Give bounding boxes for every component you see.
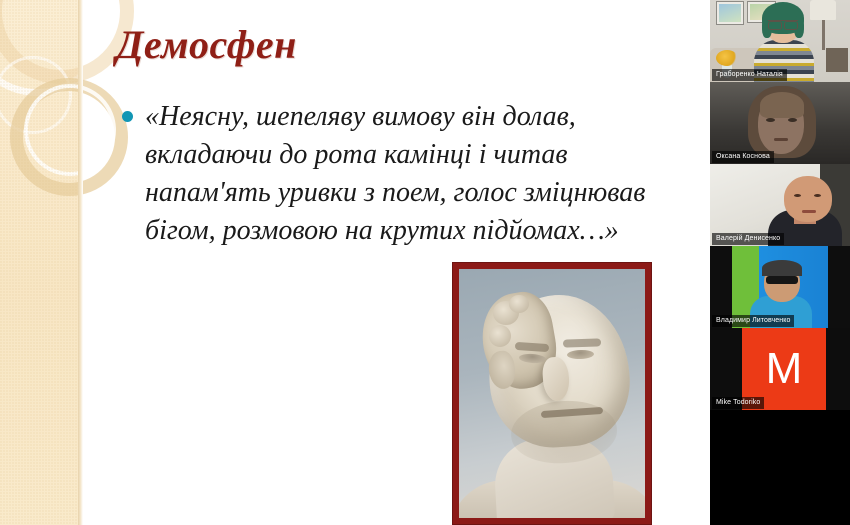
decorative-band-edge	[78, 0, 83, 525]
decorative-ring-icon	[24, 84, 116, 176]
participant-name-label: Mike Todoriko	[712, 397, 764, 409]
bust-hair-detail	[489, 325, 511, 347]
demosthenes-bust-image	[459, 269, 645, 518]
decorative-ring-icon	[10, 78, 128, 196]
participant-eye-left	[794, 194, 801, 197]
participant-name-label: Валерій Денисенко	[712, 233, 784, 245]
video-tile-participant-1[interactable]: Грабоpенко Наталія	[710, 0, 850, 82]
decorative-ring-icon	[0, 0, 108, 96]
participant-eye-right	[814, 194, 821, 197]
video-participant-strip: Грабоpенко Наталія Оксана Коснова	[710, 0, 850, 525]
video-tile-participant-2[interactable]: Оксана Коснова	[710, 82, 850, 164]
slide-title: Демосфен	[116, 24, 297, 66]
bust-brow-right	[563, 338, 601, 347]
presentation-slide: Демосфен «Неясну, шепеляву вимову він до…	[0, 0, 710, 525]
decorative-sidebar-band	[0, 0, 78, 525]
participant-hair	[762, 260, 802, 276]
floor-lamp	[810, 0, 836, 20]
participant-name-label: Грабоpенко Наталія	[712, 69, 787, 81]
flowers	[716, 50, 738, 66]
shelf	[826, 48, 848, 72]
bullet-dot-icon	[122, 111, 133, 122]
slide-bullet-item: «Неясну, шепеляву вимову він долав, вкла…	[122, 98, 687, 250]
decorative-ring-icon	[0, 0, 134, 84]
demosthenes-bust-image-frame	[452, 262, 652, 525]
participant-mouth	[802, 210, 816, 213]
decorative-ring-icon	[0, 56, 72, 134]
participant-face	[784, 176, 832, 222]
glasses-icon	[768, 20, 798, 28]
bust-hair-detail	[509, 295, 529, 313]
sunglasses-icon	[766, 276, 798, 284]
participant-hair	[760, 92, 804, 118]
slide-body-text: «Неясну, шепеляву вимову він долав, вкла…	[145, 98, 687, 250]
video-tile-participant-3[interactable]: Валерій Денисенко	[710, 164, 850, 246]
participant-name-label: Оксана Коснова	[712, 151, 774, 163]
participant-eye-left	[766, 118, 775, 122]
screen: Демосфен «Неясну, шепеляву вимову він до…	[0, 0, 850, 525]
participant-mouth	[774, 138, 788, 141]
video-strip-empty-area	[710, 410, 850, 525]
wall-picture-frame	[716, 1, 744, 25]
video-tile-participant-5[interactable]: M Mike Todoriko	[710, 328, 850, 410]
participant-eye-right	[788, 118, 797, 122]
floor-lamp-pole	[822, 20, 825, 50]
video-tile-participant-4[interactable]: Владимир Литовченко	[710, 246, 850, 328]
participant-name-label: Владимир Литовченко	[712, 315, 794, 327]
